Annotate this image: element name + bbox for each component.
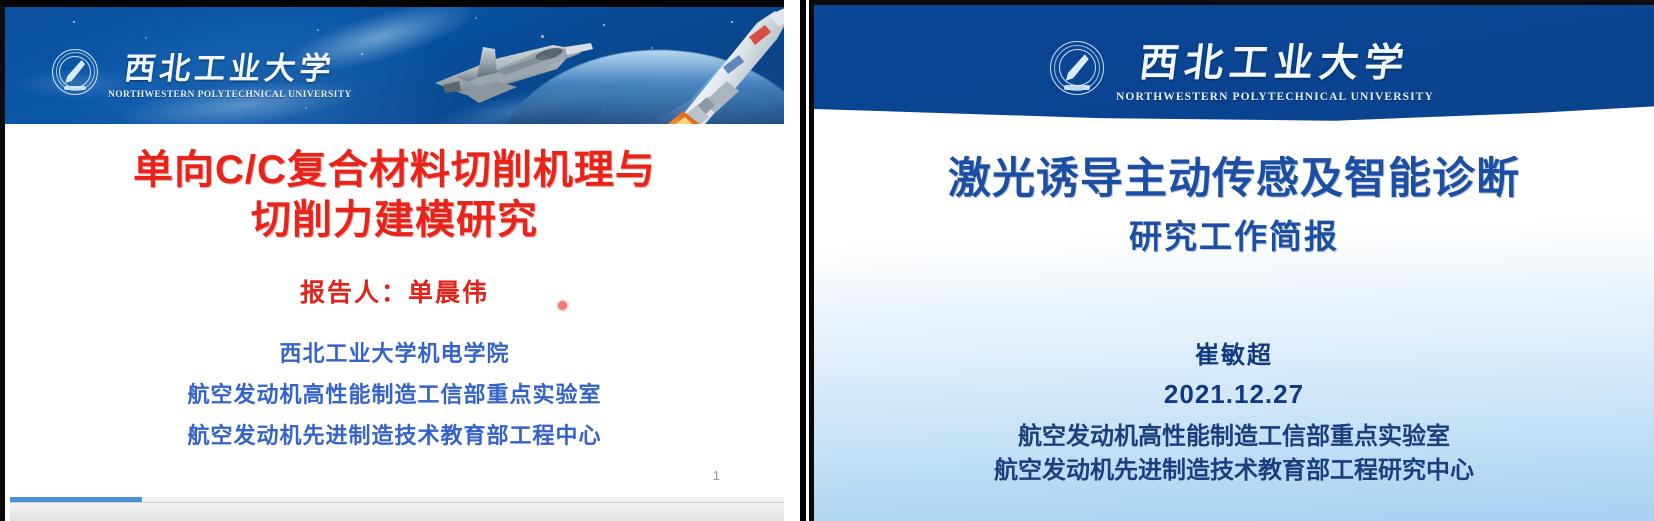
left-slide-affiliation-1: 西北工业大学机电学院 bbox=[5, 337, 784, 371]
two-slide-comparison-view: 西北工业大学 NORTHWESTERN POLYTECHNICAL UNIVER… bbox=[0, 0, 1654, 521]
left-slide-page-number: 1 bbox=[713, 468, 720, 483]
right-slide-title-block: 激光诱导主动传感及智能诊断 研究工作简报 bbox=[814, 155, 1654, 258]
university-name-cn: 西北工业大学 bbox=[122, 43, 338, 88]
left-slide-body: 单向C/C复合材料切削机理与 切削力建模研究 报告人：单晨伟 西北工业大学机电学… bbox=[5, 124, 784, 521]
star-decoration bbox=[73, 21, 75, 23]
left-slide-title-line-2: 切削力建模研究 bbox=[5, 198, 784, 244]
right-slide-affiliation-1: 航空发动机高性能制造工信部重点实验室 bbox=[814, 420, 1654, 454]
right-slide[interactable]: 西北工业大学 NORTHWESTERN POLYTECHNICAL UNIVER… bbox=[814, 0, 1654, 521]
star-decoration bbox=[317, 29, 319, 31]
right-slide-date: 2021.12.27 bbox=[814, 379, 1654, 410]
university-name-cn: 西北工业大学 bbox=[1136, 32, 1413, 88]
right-slide-title-line-2: 研究工作简报 bbox=[814, 210, 1654, 258]
left-slide-progress-track[interactable] bbox=[10, 497, 784, 502]
star-decoration bbox=[145, 37, 147, 39]
right-slide-meta-block: 崔敏超 2021.12.27 航空发动机高性能制造工信部重点实验室 航空发动机先… bbox=[814, 335, 1654, 488]
rocket-launch-illustration bbox=[645, 7, 784, 124]
right-slide-university-name: 西北工业大学 NORTHWESTERN POLYTECHNICAL UNIVER… bbox=[1116, 32, 1434, 103]
left-slide[interactable]: 西北工业大学 NORTHWESTERN POLYTECHNICAL UNIVER… bbox=[0, 0, 784, 521]
left-slide-logo: 西北工业大学 NORTHWESTERN POLYTECHNICAL UNIVER… bbox=[52, 43, 352, 100]
left-slide-presenter: 报告人：单晨伟 bbox=[5, 273, 784, 309]
left-slide-bottom-strip bbox=[10, 502, 784, 521]
left-slide-university-name: 西北工业大学 NORTHWESTERN POLYTECHNICAL UNIVER… bbox=[108, 43, 352, 100]
red-dot-marker bbox=[558, 301, 567, 310]
slide-divider bbox=[800, 0, 806, 521]
npu-seal-icon bbox=[1050, 41, 1104, 95]
fighter-jet-illustration bbox=[425, 25, 605, 115]
left-slide-progress-fill bbox=[10, 497, 142, 502]
right-slide-author: 崔敏超 bbox=[814, 335, 1654, 370]
npu-seal-icon bbox=[52, 49, 98, 95]
left-slide-affiliation-3: 航空发动机先进制造技术教育部工程中心 bbox=[5, 419, 784, 453]
university-name-en: NORTHWESTERN POLYTECHNICAL UNIVERSITY bbox=[1116, 91, 1434, 103]
left-slide-banner: 西北工业大学 NORTHWESTERN POLYTECHNICAL UNIVER… bbox=[5, 7, 784, 124]
right-slide-logo: 西北工业大学 NORTHWESTERN POLYTECHNICAL UNIVER… bbox=[1050, 32, 1434, 103]
right-slide-title-line-1: 激光诱导主动传感及智能诊断 bbox=[814, 155, 1654, 203]
right-slide-affiliation-2: 航空发动机先进制造技术教育部工程研究中心 bbox=[814, 454, 1654, 488]
left-slide-affiliation-2: 航空发动机高性能制造工信部重点实验室 bbox=[5, 378, 784, 412]
star-decoration bbox=[475, 17, 477, 19]
university-name-en: NORTHWESTERN POLYTECHNICAL UNIVERSITY bbox=[108, 90, 352, 100]
left-slide-title-line-1: 单向C/C复合材料切削机理与 bbox=[5, 148, 784, 194]
